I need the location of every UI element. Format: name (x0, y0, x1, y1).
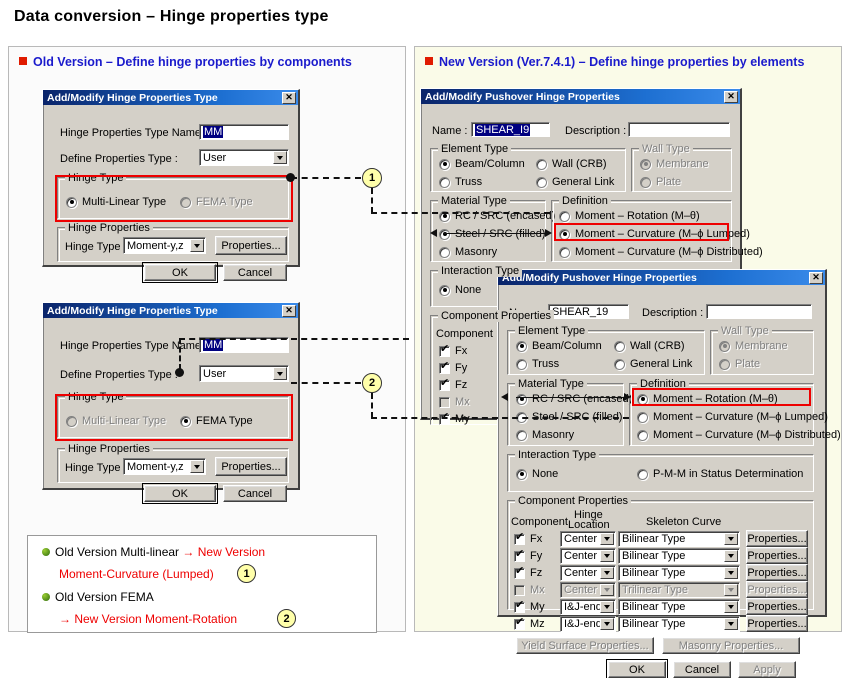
radio-wall-crb[interactable]: Wall (CRB) (536, 158, 607, 170)
wall-type-group-label: Wall Type (639, 143, 693, 155)
connector-dot-2 (175, 368, 184, 377)
checkbox-fz[interactable]: Fz (514, 567, 542, 579)
hinge-type-label: Hinge Type (65, 241, 120, 253)
radio-icon (614, 359, 625, 370)
strikethrough-rc-src (516, 397, 620, 398)
description-input[interactable] (706, 304, 812, 319)
name-input[interactable]: SHEAR_I9 (471, 122, 550, 137)
radio-fema-type[interactable]: FEMA Type (180, 415, 253, 427)
definition-group-label: Definition (637, 378, 689, 390)
chevron-down-icon[interactable] (724, 618, 738, 630)
radio-moment-rotation[interactable]: Moment – Rotation (M–θ) (637, 393, 778, 405)
material-type-group-label: Material Type (438, 195, 510, 207)
radio-membrane: Membrane (719, 340, 788, 352)
checkbox-icon (514, 551, 525, 562)
hinge-location-combo-mz[interactable]: I&J-end (560, 616, 616, 632)
skeleton-curve-combo-fx[interactable]: Bilinear Type (618, 531, 740, 547)
chevron-down-icon[interactable] (600, 550, 614, 562)
chevron-down-icon[interactable] (190, 239, 204, 252)
legend-marker-1: 1 (237, 564, 256, 583)
dialog-title-text: Add/Modify Hinge Properties Type (47, 305, 282, 317)
name-label: Name : (432, 125, 467, 137)
ok-button[interactable]: OK (608, 661, 666, 678)
cancel-button[interactable]: Cancel (673, 661, 731, 678)
properties-button[interactable]: Properties... (215, 457, 287, 476)
dialog-title-text: Add/Modify Pushover Hinge Properties (425, 91, 724, 103)
close-icon[interactable]: ✕ (282, 305, 296, 317)
hinge-type-value: Moment-y,z (127, 240, 184, 252)
name-value: SHEAR_19 (552, 306, 608, 318)
column-header-component: Component (436, 328, 493, 340)
legend-line-4: → New Version Moment-Rotation (59, 612, 237, 626)
properties-button-fx[interactable]: Properties... (746, 530, 808, 547)
name-value: MM (203, 339, 223, 351)
name-value: MM (203, 126, 223, 138)
chevron-down-icon[interactable] (190, 460, 204, 473)
close-icon[interactable]: ✕ (724, 91, 738, 103)
connector-2-segment-d (371, 393, 373, 418)
connector-2-segment-e (371, 417, 629, 419)
checkbox-icon (514, 568, 525, 579)
radio-rc-src-encased[interactable]: RC / SRC (encased) (516, 393, 632, 405)
description-label: Description : (565, 125, 626, 137)
radio-fema-type: FEMA Type (180, 196, 253, 208)
dialog-titlebar: Add/Modify Hinge Properties Type ✕ (43, 303, 298, 318)
radio-beam-column[interactable]: Beam/Column (516, 340, 602, 352)
radio-general-link[interactable]: General Link (614, 358, 692, 370)
hinge-location-combo-fz[interactable]: Center (560, 565, 616, 581)
radio-interaction-pmm[interactable]: P-M-M in Status Determination (637, 468, 803, 480)
column-header-skeleton-curve: Skeleton Curve (646, 516, 721, 528)
radio-steel-src-filled[interactable]: Steel / SRC (filled) (439, 228, 545, 240)
properties-button-fy[interactable]: Properties... (746, 547, 808, 564)
apply-button: Apply (738, 661, 796, 678)
radio-icon (439, 159, 450, 170)
old-hinge-properties-type-dialog-2[interactable]: Add/Modify Hinge Properties Type ✕ Hinge… (42, 302, 300, 490)
radio-masonry[interactable]: Masonry (516, 429, 574, 441)
radio-multi-linear-type[interactable]: Multi-Linear Type (66, 196, 166, 208)
radio-icon (439, 229, 450, 240)
radio-icon (180, 416, 191, 427)
radio-multi-linear-type: Multi-Linear Type (66, 415, 166, 427)
checkbox-mx: Mx (514, 584, 545, 596)
radio-plate: Plate (719, 358, 760, 370)
ok-button[interactable]: OK (144, 264, 216, 281)
properties-button[interactable]: Properties... (215, 236, 287, 255)
square-bullet-icon (19, 57, 27, 65)
old-version-heading: Old Version – Define hinge properties by… (19, 55, 352, 69)
arrow-right-icon (624, 393, 631, 401)
chevron-down-icon (724, 584, 738, 596)
hinge-type-combo[interactable]: Moment-y,z (123, 237, 206, 254)
checkbox-icon (439, 397, 450, 408)
radio-icon (439, 177, 450, 188)
cancel-button[interactable]: Cancel (223, 264, 287, 281)
connector-2-segment-a (179, 338, 181, 370)
close-icon[interactable]: ✕ (809, 272, 823, 284)
hinge-type-value: Moment-y,z (127, 461, 184, 473)
checkbox-icon (439, 363, 450, 374)
properties-button-fz[interactable]: Properties... (746, 564, 808, 581)
material-type-group-label: Material Type (515, 378, 587, 390)
component-properties-group-label: Component Properties (515, 495, 631, 507)
yield-surface-properties-button: Yield Surface Properties... (516, 637, 654, 654)
define-properties-type-label: Define Properties Type : (60, 153, 178, 165)
checkbox-fy[interactable]: Fy (514, 550, 542, 562)
marker-2: 2 (362, 373, 382, 393)
arrow-left-icon (430, 229, 437, 237)
checkbox-fx[interactable]: Fx (439, 345, 467, 357)
checkbox-my[interactable]: My (514, 601, 545, 613)
chevron-down-icon[interactable] (724, 567, 738, 579)
skeleton-curve-combo-my[interactable]: Bilinear Type (618, 599, 740, 615)
radio-icon (719, 341, 730, 352)
radio-icon (516, 359, 527, 370)
interaction-type-group-label: Interaction Type (438, 265, 522, 277)
name-input[interactable]: SHEAR_19 (548, 304, 629, 319)
legend-line-3: Old Version FEMA (42, 590, 154, 604)
radio-icon (719, 359, 730, 370)
hinge-location-combo-fy[interactable]: Center (560, 548, 616, 564)
connector-2-segment-b (179, 338, 409, 340)
radio-icon (640, 177, 651, 188)
arrow-left-icon (501, 393, 508, 401)
properties-button-mx: Properties... (746, 581, 808, 598)
radio-icon (516, 394, 527, 405)
dialog-title-text: Add/Modify Pushover Hinge Properties (502, 272, 809, 284)
radio-icon (559, 247, 570, 258)
define-properties-type-combo[interactable]: User (199, 365, 289, 382)
new-version-panel: New Version (Ver.7.4.1) – Define hinge p… (414, 46, 842, 632)
connector-1-segment-c (371, 212, 550, 214)
element-type-group-label: Element Type (515, 325, 588, 337)
radio-icon (66, 416, 77, 427)
checkbox-icon (514, 534, 525, 545)
chevron-down-icon[interactable] (724, 533, 738, 545)
properties-button-my[interactable]: Properties... (746, 598, 808, 615)
dialog-titlebar: Add/Modify Hinge Properties Type ✕ (43, 90, 298, 105)
column-header-location: Location (568, 519, 610, 531)
define-properties-type-label: Define Properties Type : (60, 369, 178, 381)
checkbox-mz[interactable]: Mz (514, 618, 545, 630)
chevron-down-icon[interactable] (600, 601, 614, 613)
square-bullet-icon (425, 57, 433, 65)
radio-icon (536, 159, 547, 170)
connector-dot-1 (286, 173, 295, 182)
dialog-titlebar: Add/Modify Pushover Hinge Properties ✕ (421, 89, 740, 104)
legend-line-2: Moment-Curvature (Lumped) (59, 567, 214, 581)
legend-line-1: Old Version Multi-linear → New Version (42, 545, 265, 559)
radio-icon (637, 412, 648, 423)
radio-icon (536, 177, 547, 188)
chevron-down-icon[interactable] (600, 533, 614, 545)
radio-masonry[interactable]: Masonry (439, 246, 497, 258)
radio-moment-curvature-distributed[interactable]: Moment – Curvature (M–ϕ Distributed) (637, 429, 841, 441)
chevron-down-icon[interactable] (600, 567, 614, 579)
checkbox-fy[interactable]: Fy (439, 362, 467, 374)
radio-moment-curvature-lumped[interactable]: Moment – Curvature (M–ϕ Lumped) (637, 411, 828, 423)
new-version-heading: New Version (Ver.7.4.1) – Define hinge p… (425, 55, 804, 69)
define-properties-type-value: User (203, 152, 226, 164)
component-properties-group-label: Component Properties (438, 310, 554, 322)
arrow-right-icon (545, 229, 552, 237)
radio-icon (614, 341, 625, 352)
marker-1: 1 (362, 168, 382, 188)
radio-icon (559, 229, 570, 240)
chevron-down-icon[interactable] (273, 367, 287, 380)
connector-1-segment-b (371, 188, 373, 213)
cancel-button[interactable]: Cancel (223, 485, 287, 502)
properties-button-mz[interactable]: Properties... (746, 615, 808, 632)
legend-marker-2: 2 (277, 609, 296, 628)
radio-general-link[interactable]: General Link (536, 176, 614, 188)
radio-interaction-none[interactable]: None (516, 468, 558, 480)
radio-icon (66, 197, 77, 208)
chevron-down-icon[interactable] (273, 151, 287, 164)
old-hinge-properties-type-dialog-1[interactable]: Add/Modify Hinge Properties Type ✕ Hinge… (42, 89, 300, 267)
radio-icon (516, 469, 527, 480)
checkbox-icon (439, 414, 450, 425)
hinge-type-group-label: Hinge Type (65, 172, 126, 184)
hinge-type-label: Hinge Type (65, 462, 120, 474)
description-input[interactable] (628, 122, 730, 137)
element-type-group-label: Element Type (438, 143, 511, 155)
checkbox-icon (439, 346, 450, 357)
radio-icon (516, 430, 527, 441)
hinge-properties-group-label: Hinge Properties (65, 222, 153, 234)
radio-beam-column[interactable]: Beam/Column (439, 158, 525, 170)
hinge-location-combo-fx[interactable]: Center (560, 531, 616, 547)
skeleton-curve-combo-mx: Trilinear Type (618, 582, 740, 598)
definition-group-label: Definition (559, 195, 611, 207)
checkbox-icon (514, 619, 525, 630)
hinge-properties-group-label: Hinge Properties (65, 443, 153, 455)
define-properties-type-combo[interactable]: User (199, 149, 289, 166)
radio-plate: Plate (640, 176, 681, 188)
green-bullet-icon (42, 548, 50, 556)
radio-moment-rotation[interactable]: Moment – Rotation (M–θ) (559, 210, 700, 222)
checkbox-my[interactable]: My (439, 413, 470, 425)
chevron-down-icon[interactable] (724, 601, 738, 613)
radio-icon (439, 247, 450, 258)
checkbox-fx[interactable]: Fx (514, 533, 542, 545)
wall-type-group-label: Wall Type (718, 325, 772, 337)
legend-box: Old Version Multi-linear → New Version M… (27, 535, 377, 633)
radio-moment-curvature-distributed[interactable]: Moment – Curvature (M–ϕ Distributed) (559, 246, 763, 258)
skeleton-curve-combo-fz[interactable]: Bilinear Type (618, 565, 740, 581)
radio-icon (439, 285, 450, 296)
hinge-properties-type-name-label: Hinge Properties Type Name : (60, 127, 207, 139)
checkbox-icon (514, 602, 525, 613)
define-properties-type-value: User (203, 368, 226, 380)
name-value: SHEAR_I9 (475, 124, 530, 136)
dialog-title-text: Add/Modify Hinge Properties Type (47, 92, 282, 104)
chevron-down-icon (600, 584, 614, 596)
radio-icon (516, 341, 527, 352)
radio-wall-crb[interactable]: Wall (CRB) (614, 340, 685, 352)
column-header-component: Component (511, 516, 568, 528)
page-title: Data conversion – Hinge properties type (14, 8, 329, 26)
radio-truss[interactable]: Truss (439, 176, 482, 188)
radio-interaction-none[interactable]: None (439, 284, 481, 296)
hinge-properties-type-name-label: Hinge Properties Type Name : (60, 340, 207, 352)
skeleton-curve-combo-fy[interactable]: Bilinear Type (618, 548, 740, 564)
checkbox-mx: Mx (439, 396, 470, 408)
skeleton-curve-combo-mz[interactable]: Bilinear Type (618, 616, 740, 632)
hinge-type-combo[interactable]: Moment-y,z (123, 458, 206, 475)
hinge-type-group-label: Hinge Type (65, 391, 126, 403)
radio-moment-curvature-lumped[interactable]: Moment – Curvature (M–ϕ Lumped) (559, 228, 750, 240)
radio-icon (180, 197, 191, 208)
radio-icon (637, 430, 648, 441)
radio-icon (640, 159, 651, 170)
connector-1-segment-a (291, 177, 361, 179)
connector-2-segment-c (291, 382, 361, 384)
hinge-properties-type-name-input[interactable]: MM (199, 124, 289, 140)
dialog-titlebar: Add/Modify Pushover Hinge Properties ✕ (498, 270, 825, 285)
hinge-location-combo-my[interactable]: I&J-end (560, 599, 616, 615)
radio-icon (559, 211, 570, 222)
radio-icon (637, 394, 648, 405)
description-label: Description : (642, 307, 703, 319)
chevron-down-icon[interactable] (724, 550, 738, 562)
checkbox-fz[interactable]: Fz (439, 379, 467, 391)
checkbox-icon (439, 380, 450, 391)
checkbox-icon (514, 585, 525, 596)
green-bullet-icon (42, 593, 50, 601)
ok-button[interactable]: OK (144, 485, 216, 502)
radio-membrane: Membrane (640, 158, 709, 170)
close-icon[interactable]: ✕ (282, 92, 296, 104)
radio-icon (637, 469, 648, 480)
radio-truss[interactable]: Truss (516, 358, 559, 370)
hinge-location-combo-mx: Center (560, 582, 616, 598)
masonry-properties-button: Masonry Properties... (662, 637, 800, 654)
interaction-type-group-label: Interaction Type (515, 449, 599, 461)
chevron-down-icon[interactable] (600, 618, 614, 630)
